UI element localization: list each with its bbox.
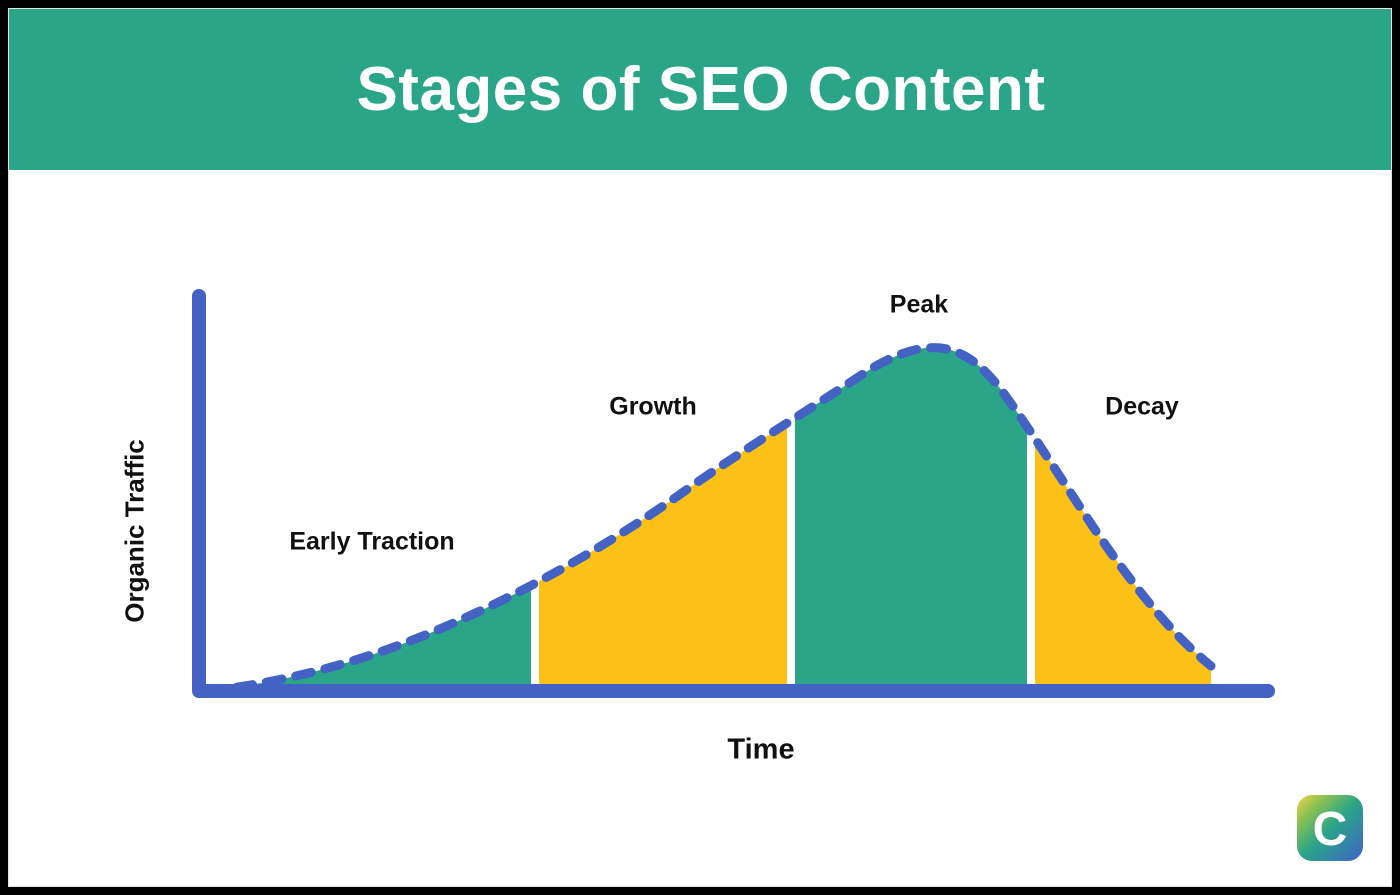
brand-logo-letter: C: [1313, 803, 1348, 856]
seo-lifecycle-chart: [9, 170, 1392, 887]
brand-logo[interactable]: C: [1297, 795, 1363, 861]
chart-plot-area: Early Traction Growth Peak Decay Organic…: [9, 170, 1392, 887]
stage-label-early-traction: Early Traction: [289, 528, 454, 557]
x-axis-label: Time: [727, 734, 794, 767]
page-title: Stages of SEO Content: [356, 59, 1045, 121]
stage-label-growth: Growth: [609, 393, 697, 422]
stage-label-peak: Peak: [890, 291, 948, 320]
infographic-card: Stages of SEO Content: [8, 8, 1392, 887]
header-band: Stages of SEO Content: [9, 9, 1392, 170]
stage-fills: [207, 348, 1211, 692]
infographic-canvas: Stages of SEO Content: [0, 0, 1400, 895]
stage-label-decay: Decay: [1105, 393, 1179, 422]
y-axis-label: Organic Traffic: [120, 439, 151, 623]
